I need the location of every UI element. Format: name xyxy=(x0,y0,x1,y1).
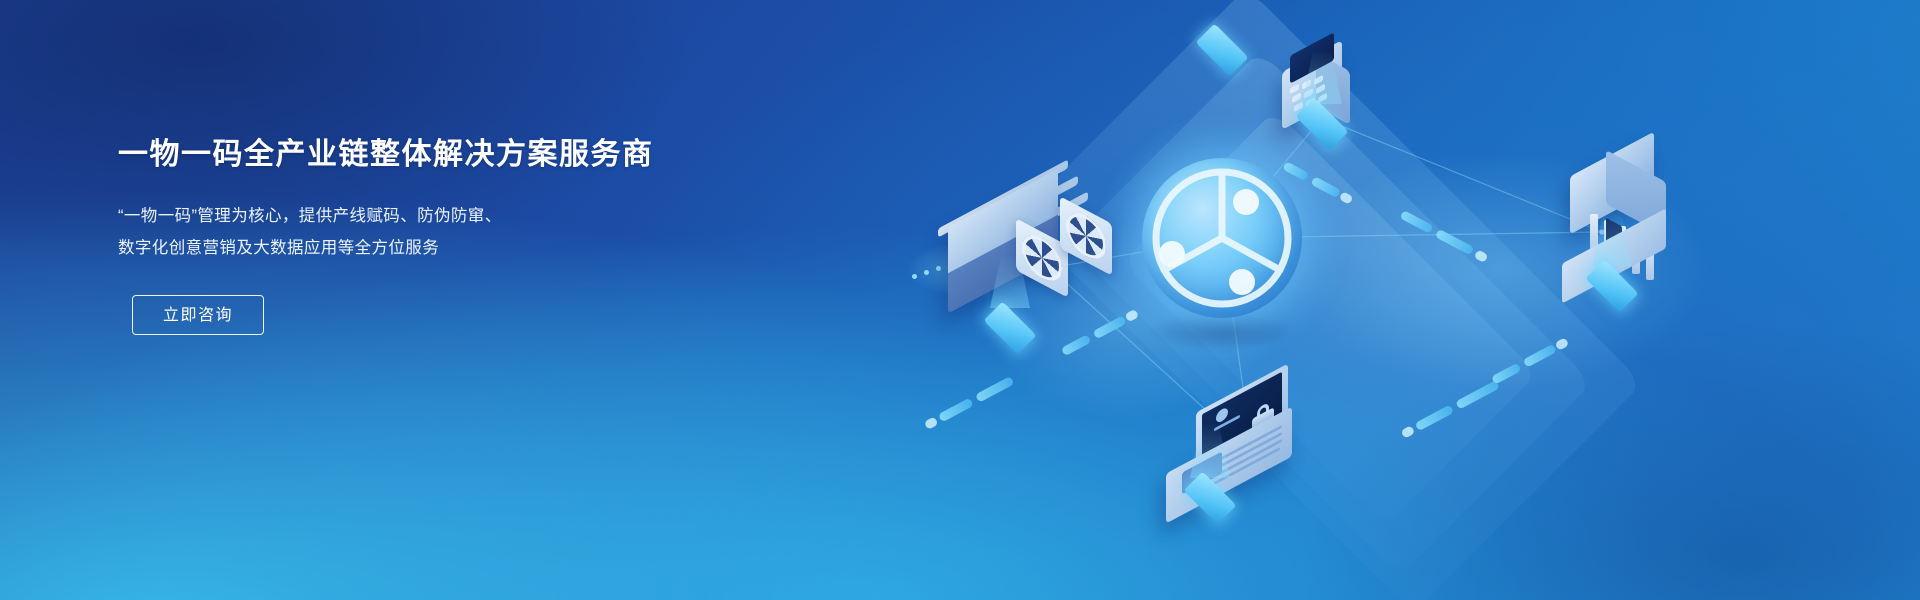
subtitle-line-2: 数字化创意营销及大数据应用等全方位服务 xyxy=(118,232,738,264)
consult-now-button[interactable]: 立即咨询 xyxy=(132,295,264,335)
subtitle-line-1: “一物一码”管理为核心，提供产线赋码、防伪防窜、 xyxy=(118,200,738,232)
pedestal-server xyxy=(978,300,1042,344)
isometric-network-illustration xyxy=(860,0,1920,600)
hero-subtitle: “一物一码”管理为核心，提供产线赋码、防伪防窜、 数字化创意营销及大数据应用等全… xyxy=(118,200,738,264)
sphere-network-graph-icon xyxy=(1142,158,1302,318)
page-title: 一物一码全产业链整体解决方案服务商 xyxy=(118,133,738,177)
pedestal-pos xyxy=(1290,96,1354,140)
hero-banner: 一物一码全产业链整体解决方案服务商 “一物一码”管理为核心，提供产线赋码、防伪防… xyxy=(0,0,1920,600)
pedestal-laptop xyxy=(1178,470,1242,514)
pedestal-bank xyxy=(1580,258,1644,302)
pedestal-top xyxy=(1190,22,1254,66)
hero-copy: 一物一码全产业链整体解决方案服务商 “一物一码”管理为核心，提供产线赋码、防伪防… xyxy=(118,133,738,335)
